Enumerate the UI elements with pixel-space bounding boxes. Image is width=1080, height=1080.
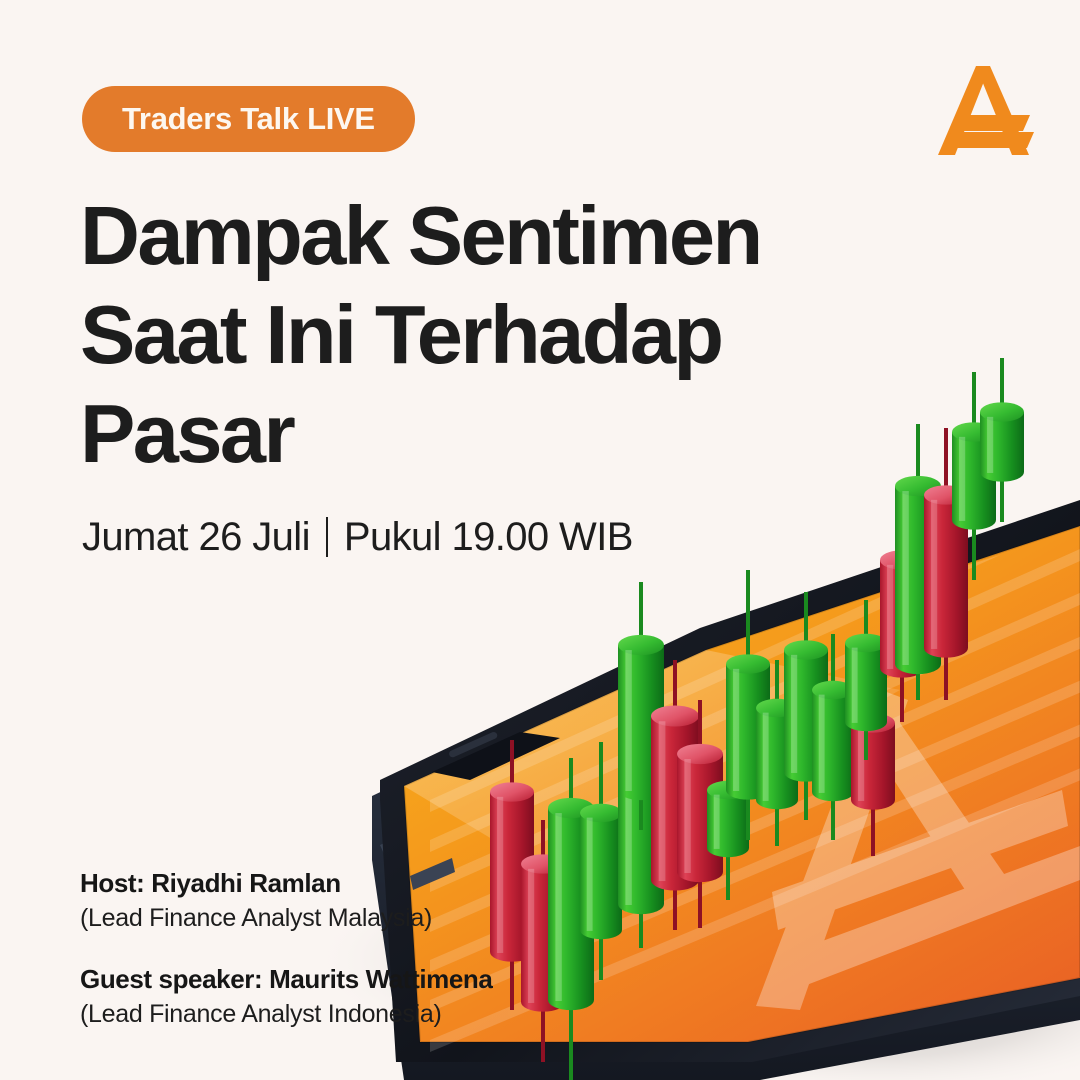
live-badge[interactable]: Traders Talk LIVE [82, 86, 415, 152]
page-title: Dampak Sentimen Saat Ini Terhadap Pasar [80, 186, 840, 483]
headline-line-1: Dampak Sentimen [80, 186, 840, 285]
candle-highlight [763, 713, 769, 801]
schedule-time: Pukul 19.00 WIB [344, 513, 633, 561]
candle-highlight [659, 721, 666, 881]
credits-block: Host: Riyadhi Ramlan (Lead Finance Analy… [80, 866, 492, 1032]
live-badge-label: Traders Talk LIVE [122, 101, 375, 137]
candle-highlight [555, 813, 561, 1001]
candle-highlight [684, 759, 690, 873]
candle-highlight [587, 818, 593, 931]
guest-role: (Lead Finance Analyst Indonesia) [80, 996, 492, 1032]
host-role: (Lead Finance Analyst Malaysia) [80, 900, 492, 936]
candle-highlight [528, 869, 534, 1003]
candle-highlight [858, 728, 864, 801]
brand-a-mark-icon [930, 58, 1038, 162]
candle-highlight [959, 437, 965, 521]
candle-highlight [733, 669, 739, 791]
candle-highlight [931, 500, 937, 649]
candle-highlight [819, 695, 825, 793]
candle-cap [580, 804, 622, 822]
candle-body [707, 790, 749, 857]
schedule-date: Jumat 26 Juli [82, 513, 310, 561]
candle-cap [618, 635, 664, 655]
candle-body [851, 723, 895, 810]
candle-highlight [625, 650, 631, 791]
headline-line-3: Pasar [80, 384, 840, 483]
candle-cap [651, 705, 699, 726]
candle-highlight [987, 417, 993, 473]
candle-highlight [887, 565, 893, 669]
candle-highlight [791, 655, 797, 773]
guest-credit: Guest speaker: Maurits Wattimena (Lead F… [80, 962, 492, 1032]
candle-highlight [497, 797, 503, 953]
headline-line-2: Saat Ini Terhadap [80, 285, 840, 384]
candle-highlight [902, 491, 908, 665]
schedule-line: Jumat 26 Juli Pukul 19.00 WIB [82, 513, 633, 561]
candle-cap [784, 640, 828, 659]
candle-highlight [852, 648, 858, 723]
candle-cap [490, 782, 534, 801]
candle-body [980, 412, 1024, 482]
host-name: Host: Riyadhi Ramlan [80, 866, 492, 900]
guest-name: Guest speaker: Maurits Wattimena [80, 962, 492, 996]
poster-canvas: Traders Talk LIVE Dampak Sentimen Saat I… [0, 0, 1080, 1080]
host-credit: Host: Riyadhi Ramlan (Lead Finance Analy… [80, 866, 492, 936]
candle-cap [677, 744, 723, 764]
schedule-separator [326, 517, 328, 557]
candle-body [580, 813, 622, 939]
candle-highlight [714, 795, 720, 849]
candle-cap [980, 402, 1024, 421]
candle-cap [726, 654, 770, 673]
